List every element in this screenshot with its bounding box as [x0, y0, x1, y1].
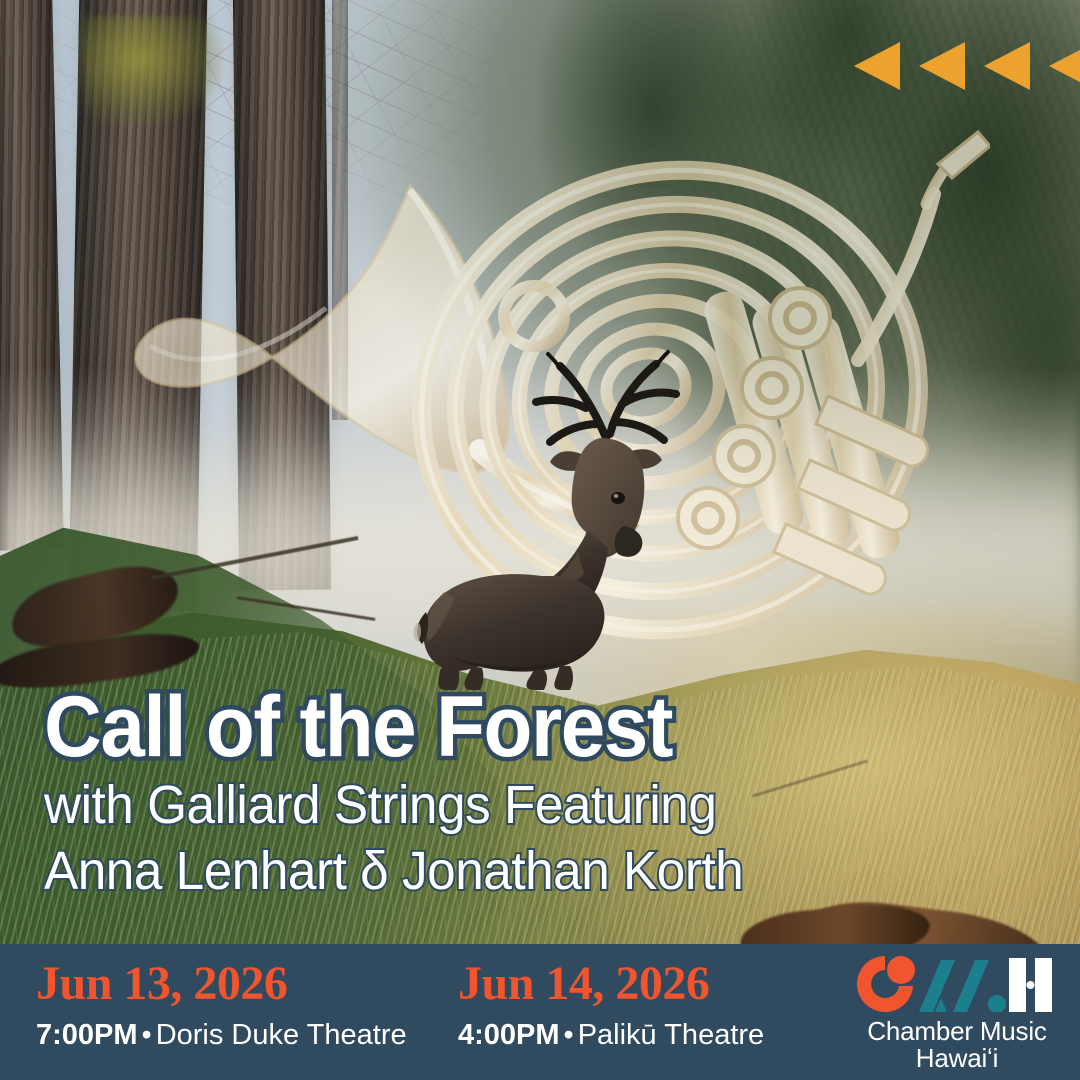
- showing-venue: Palikū Theatre: [578, 1019, 764, 1051]
- showing-date: Jun 13, 2026: [36, 960, 407, 1008]
- logo-text-line-1: Chamber Music: [854, 1018, 1060, 1045]
- triangle-left-icon: [1043, 38, 1080, 94]
- poster-subtitle-line-2: Anna Lenhart δ Jonathan Korth: [44, 841, 937, 901]
- showing-date: Jun 14, 2026: [458, 960, 764, 1008]
- separator-dot: •: [138, 1019, 156, 1051]
- stag-deer-icon: [410, 330, 740, 690]
- showing-block: Jun 14, 2026 4:00PM•Palikū Theatre: [458, 960, 764, 1050]
- cmh-monogram-icon: [857, 956, 1057, 1012]
- showing-block: Jun 13, 2026 7:00PM•Doris Duke Theatre: [36, 960, 407, 1050]
- triangle-left-icon: [913, 38, 969, 94]
- poster-title: Call of the Forest: [44, 686, 918, 769]
- showing-time: 7:00PM: [36, 1019, 138, 1051]
- event-poster: Call of the Forest with Galliard Strings…: [0, 0, 1080, 1080]
- triangle-left-icon: [978, 38, 1034, 94]
- triangle-left-icon: [848, 38, 904, 94]
- showing-venue: Doris Duke Theatre: [156, 1019, 407, 1051]
- showing-time-venue: 4:00PM•Palikū Theatre: [458, 1021, 764, 1050]
- poster-subtitle-line-1: with Galliard Strings Featuring: [44, 775, 937, 835]
- moss-on-trunk: [82, 16, 222, 124]
- showing-time-venue: 7:00PM•Doris Duke Theatre: [36, 1021, 407, 1050]
- logo-text-line-2: Hawaiʻi: [854, 1045, 1060, 1072]
- chamber-music-hawaii-logo: Chamber Music Hawaiʻi: [854, 956, 1060, 1072]
- separator-dot: •: [560, 1019, 578, 1051]
- showing-time: 4:00PM: [458, 1019, 560, 1051]
- footer-bar: Jun 13, 2026 7:00PM•Doris Duke Theatre J…: [0, 944, 1080, 1080]
- title-block: Call of the Forest with Galliard Strings…: [44, 686, 984, 901]
- triangle-decoration-group: [848, 38, 1080, 94]
